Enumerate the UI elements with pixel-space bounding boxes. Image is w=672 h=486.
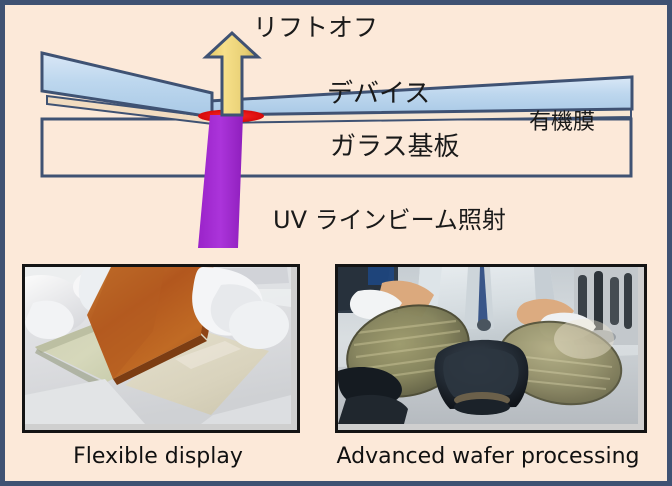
uv-line-beam-shape — [198, 115, 243, 248]
photo-advanced-wafer-processing — [335, 264, 647, 433]
photo-flexible-display — [22, 264, 300, 433]
glass-substrate-label: ガラス基板 — [330, 134, 459, 160]
caption-flexible-display: Flexible display — [22, 444, 294, 469]
caption-advanced-wafer-processing: Advanced wafer processing — [335, 444, 641, 469]
photo-block-flexible-display: Flexible display — [22, 264, 300, 469]
uv-line-beam-label: UV ラインビーム照射 — [273, 208, 506, 232]
figure-panel: リフトオフ デバイス ガラス基板 有機膜 UV ラインビーム照射 — [0, 0, 672, 486]
photo-block-advanced-wafer-processing: Advanced wafer processing — [335, 264, 647, 469]
liftoff-label: リフトオフ — [253, 15, 378, 40]
device-label: デバイス — [327, 81, 430, 107]
liftoff-process-diagram: リフトオフ デバイス ガラス基板 有機膜 UV ラインビーム照射 — [5, 5, 672, 255]
organic-film-label: 有機膜 — [529, 112, 595, 134]
